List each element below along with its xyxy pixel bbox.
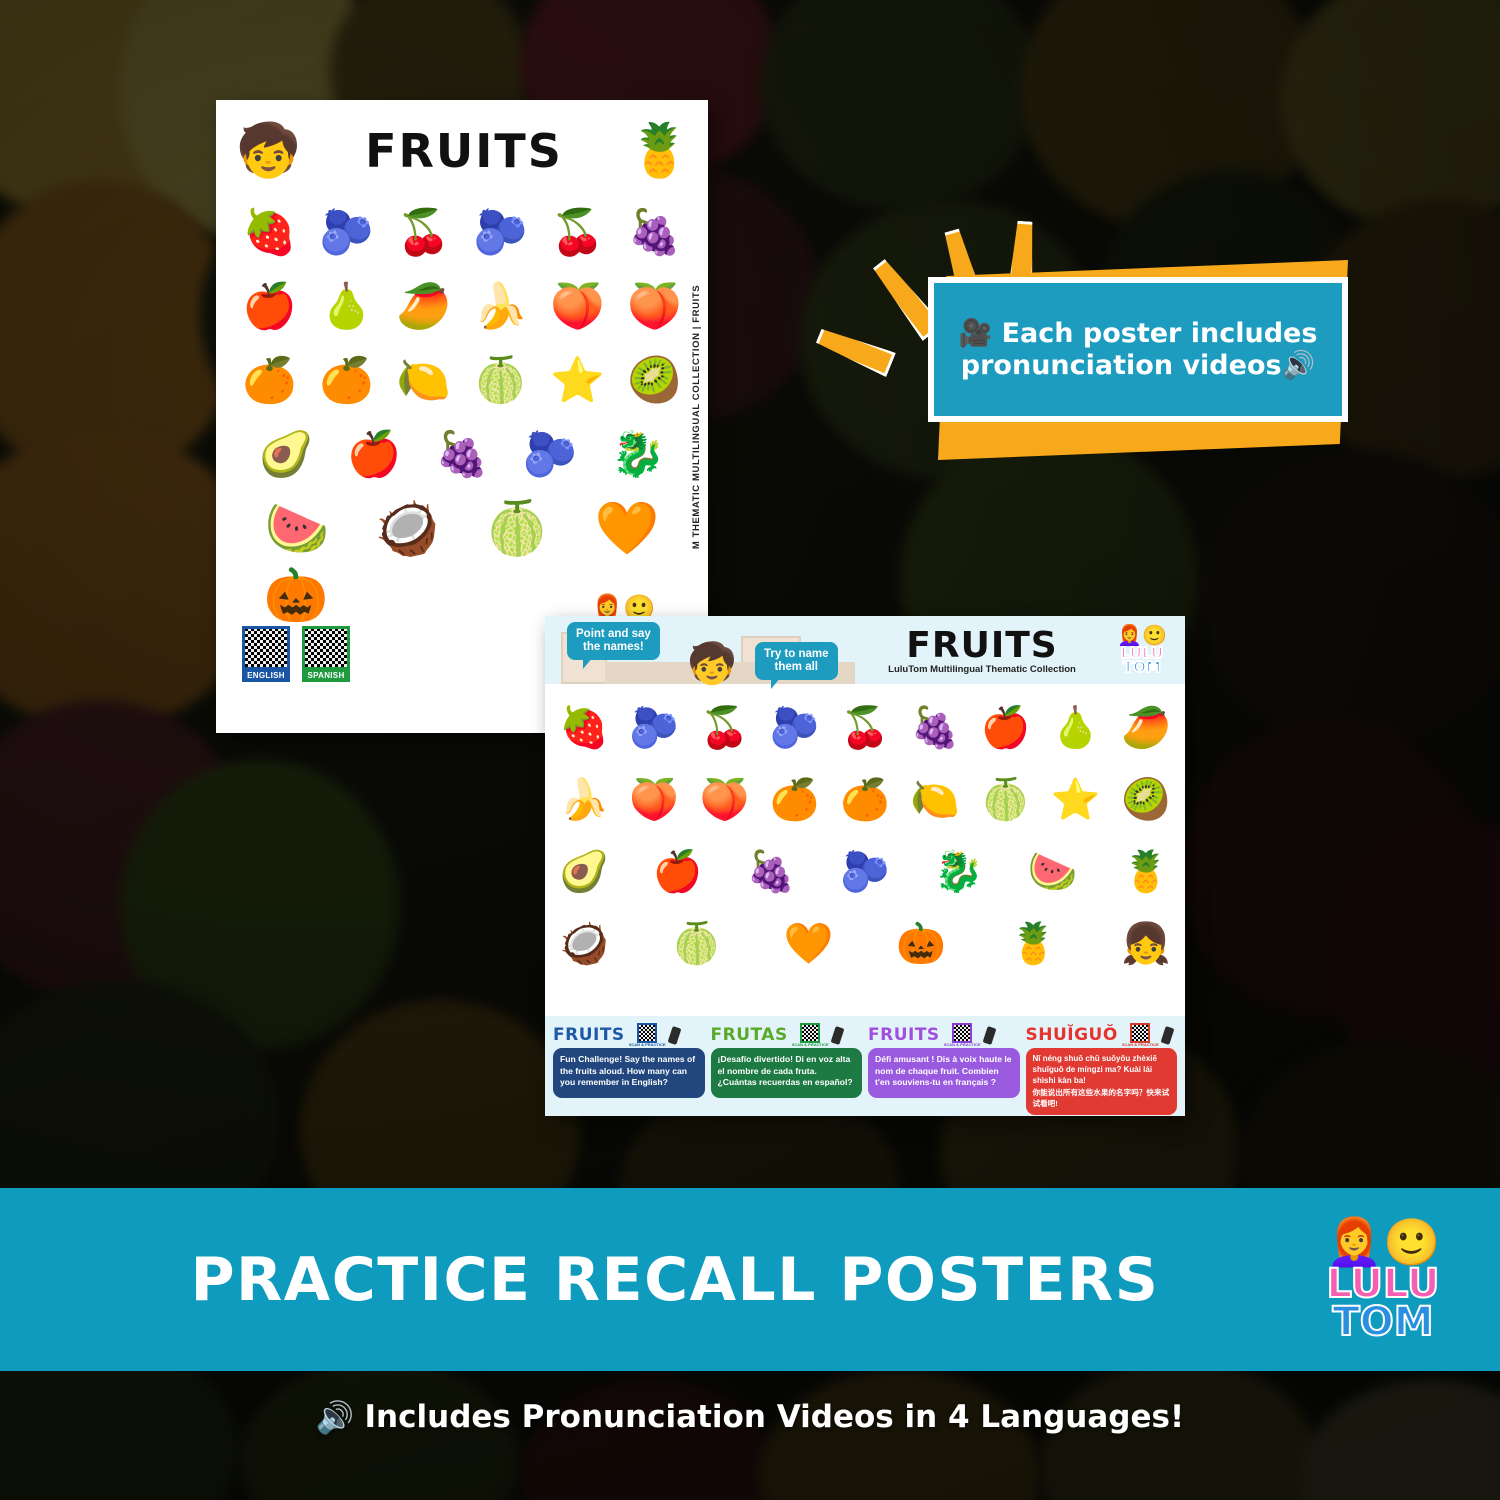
fruit-item-orange: 🍊 [770,780,820,820]
fruit-item-orange: 🍊 [242,359,297,403]
logo-text-tom: TOM [1109,660,1175,674]
callout-pronunciation-videos: 🎥 Each poster includes pronunciation vid… [860,215,1360,480]
lulutom-faces-icon: 👩‍🦰🙂 [1308,1219,1458,1265]
fruit-item-raspberry: 🍒 [700,708,750,748]
callout-line-1: Each poster includes [1002,318,1318,349]
fruit-item-melon: 🍈 [485,503,550,555]
fruit-item-blueberry: 🫐 [770,708,820,748]
qr-label-scan-practice: SCAN & PRACTICE [792,1043,829,1047]
fruit-row: 🍓 🫐 🍒 🫐 🍒 🍇 🍎 🍐 🥭 [559,692,1171,764]
language-word-chinese: SHUĬGUŎ [1026,1025,1118,1045]
qr-image-spanish [302,626,350,670]
fruit-item-strawberry: 🍓 [559,708,609,748]
bubble-line-2: the names! [583,641,644,653]
tagline-bar: 🔊 Includes Pronunciation Videos in 4 Lan… [0,1382,1500,1452]
fruit-row: 🍎 🍐 🥭 🍌 🍑 🍑 [242,270,682,344]
qr-code-chinese-mini[interactable] [1130,1023,1150,1043]
movie-camera-icon: 🎥 [959,318,993,349]
fruit-item-dragonfruit: 🐉 [934,852,984,892]
fruit-item-pomegranate: 🍎 [347,433,402,477]
fruit-item-starfruit: ⭐ [1051,780,1101,820]
speech-bubble-point-and-say: Point and say the names! [567,622,660,660]
market-scene: 🧒 Point and say the names! Try to name t… [555,616,855,684]
fruit-item-avocado: 🥑 [559,852,609,892]
fruit-row: 🥑 🍎 🍇 🫐 🐉 [242,418,682,492]
lulu-tom-market-scene-icon: 🧒 [236,125,301,177]
language-text-chinese-pinyin: Nǐ néng shuō chū suǒyǒu zhèxiē shuǐguǒ d… [1033,1054,1157,1085]
phone-icon [982,1026,996,1045]
fruit-item-grapes: 🍇 [627,211,682,255]
language-block-french: FRUITS SCAN & PRACTICE Défi amusant ! Di… [868,1022,1020,1110]
qr-code-spanish[interactable]: SPANISH [302,626,350,682]
fruit-item-blackberry: 🫐 [319,211,374,255]
language-block-spanish: FRUTAS SCAN & PRACTICE ¡Desafío divertid… [711,1022,863,1110]
lulutom-logo-banner: 👩‍🦰🙂 LULU TOM [1308,1219,1458,1341]
fruit-item-kiwi: 🥝 [1121,780,1171,820]
fruit-item-tangerine: 🍊 [840,780,890,820]
fruit-item-pineapple: 🍍 [1009,924,1059,964]
lulutom-logo-landscape: 👩‍🦰🙂 LULU TOM [1109,626,1175,675]
fruit-item-raspberry: 🍒 [396,211,451,255]
fruit-row: 🥑 🍎 🍇 🫐 🐉 🍉 🍍 [559,836,1171,908]
qr-code-french-mini[interactable] [952,1023,972,1043]
phone-icon [1160,1026,1174,1045]
fruit-item-mangosteen: 🍇 [746,852,796,892]
fruit-item-banana: 🍌 [473,285,528,329]
fruit-row: 🍌 🍑 🍑 🍊 🍊 🍋 🍈 ⭐ 🥝 [559,764,1171,836]
language-header-chinese: SHUĬGUŎ SCAN & PRACTICE [1026,1022,1178,1048]
bubble-line-1: Point and say [576,628,651,640]
fruit-item-melon: 🍈 [671,924,721,964]
qr-label-english: ENGLISH [242,670,290,682]
assorted-fruit-basket-icon: 🍍 [627,125,692,177]
fruit-item-lime: 🍈 [473,359,528,403]
landscape-title: FRUITS [855,625,1109,666]
fruit-item-watermelon: 🍉 [1027,852,1077,892]
fruit-item-fig: 🫐 [523,433,578,477]
fruit-item-apple: 🍎 [981,708,1031,748]
phone-icon [667,1026,681,1045]
fruit-item-plum: 🍑 [700,780,750,820]
speaker-icon: 🔊 [316,1399,355,1436]
bubble-line-2: them all [775,661,818,673]
fruit-item-dragonfruit: 🐉 [611,433,666,477]
logo-text-tom: TOM [1308,1303,1458,1341]
fruit-item-coconut: 🥥 [375,503,440,555]
lulu-tom-characters-icon: 🧒 [687,644,737,684]
callout-line-2: pronunciation videos [961,350,1282,381]
language-text-chinese-block: Nǐ néng shuō chū suǒyǒu zhèxiē shuǐguǒ d… [1026,1048,1178,1115]
language-block-chinese: SHUĬGUŎ SCAN & PRACTICE Nǐ néng shuō chū… [1026,1022,1178,1110]
portrait-fruit-grid: 🍓 🫐 🍒 🫐 🍒 🍇 🍎 🍐 🥭 🍌 🍑 🍑 🍊 🍊 🍋 🍈 ⭐ 🥝 🥑 [216,192,708,566]
fruit-item-tangerine: 🍊 [319,359,374,403]
fruit-item-pear: 🍐 [1051,708,1101,748]
fruit-item-pumpkin: 🎃 [896,924,946,964]
fruit-row: 🍉 🥥 🍈 🧡 [242,492,682,566]
fruit-item-pomegranate: 🍎 [653,852,703,892]
fruit-item-fig: 🫐 [840,852,890,892]
fruit-item-plum: 🍑 [627,285,682,329]
fruit-item-papaya: 🧡 [595,503,660,555]
landscape-title-block: FRUITS LuluTom Multilingual Thematic Col… [855,625,1109,675]
fruit-item-kiwi: 🥝 [627,359,682,403]
tagline-text: Includes Pronunciation Videos in 4 Langu… [365,1399,1185,1435]
fruit-item-avocado: 🥑 [259,433,314,477]
fruit-item-lemon: 🍋 [910,780,960,820]
fruit-item-grapes: 🍇 [910,708,960,748]
fruit-item-mango: 🥭 [1121,708,1171,748]
landscape-header: 🧒 Point and say the names! Try to name t… [545,616,1185,684]
callout-text: 🎥 Each poster includes pronunciation vid… [959,318,1318,382]
language-text-spanish: ¡Desafío divertido! Di en voz alta el no… [711,1048,863,1098]
qr-code-spanish-mini[interactable] [800,1023,820,1043]
fruit-row: 🥥 🍈 🧡 🎃 🍍 👧 [559,908,1171,980]
fruit-item-lemon: 🍋 [396,359,451,403]
bottom-banner: PRACTICE RECALL POSTERS 👩‍🦰🙂 LULU TOM [0,1188,1500,1371]
fruit-item-peach: 🍑 [550,285,605,329]
fruit-item-cherry: 🍒 [840,708,890,748]
lulutom-faces-icon: 👩‍🦰🙂 [1109,626,1175,646]
language-text-english: Fun Challenge! Say the names of the frui… [553,1048,705,1098]
language-strip: FRUITS SCAN & PRACTICE Fun Challenge! Sa… [545,1016,1185,1116]
fruit-item-coconut: 🥥 [559,924,609,964]
qr-label-scan-practice: SCAN & PRACTICE [944,1043,981,1047]
fruit-item-blackberry: 🫐 [629,708,679,748]
fruit-item-mangosteen: 🍇 [435,433,490,477]
fruit-item-strawberry: 🍓 [242,211,297,255]
fruit-item-banana: 🍌 [559,780,609,820]
language-text-french: Défi amusant ! Dis à voix haute le nom d… [868,1048,1020,1098]
fruit-row: 🍓 🫐 🍒 🫐 🍒 🍇 [242,196,682,270]
language-word-spanish: FRUTAS [711,1025,788,1045]
poster-landscape[interactable]: 🧒 Point and say the names! Try to name t… [545,616,1185,1116]
landscape-subtitle: LuluTom Multilingual Thematic Collection [855,664,1109,675]
fruit-item-cherry: 🍒 [550,211,605,255]
portrait-header: 🧒 FRUITS 🍍 [216,100,708,192]
language-text-chinese-hanzi: 你能说出所有这些水果的名字吗？快来试试看吧! [1033,1088,1171,1109]
fruit-item-lime: 🍈 [981,780,1031,820]
qr-label-scan-practice: SCAN & PRACTICE [1122,1043,1159,1047]
language-word-french: FRUITS [868,1025,940,1045]
fruit-item-mango: 🥭 [396,285,451,329]
language-header-french: FRUITS SCAN & PRACTICE [868,1022,1020,1048]
language-block-english: FRUITS SCAN & PRACTICE Fun Challenge! Sa… [553,1022,705,1110]
bubble-line-1: Try to name [764,648,829,660]
qr-code-english[interactable]: ENGLISH [242,626,290,682]
qr-code-group: ENGLISH SPANISH [242,626,350,682]
speaker-icon: 🔊 [1282,350,1316,381]
landscape-fruit-grid: 🍓 🫐 🍒 🫐 🍒 🍇 🍎 🍐 🥭 🍌 🍑 🍑 🍊 🍊 🍋 🍈 ⭐ 🥝 🥑 🍎 … [545,684,1185,980]
fruit-row: 🍊 🍊 🍋 🍈 ⭐ 🥝 [242,344,682,418]
fruit-item-blueberry: 🫐 [473,211,528,255]
logo-text-lulu: LULU [1308,1265,1458,1303]
fruit-item-pear: 🍐 [319,285,374,329]
qr-label-spanish: SPANISH [302,670,350,682]
lulu-tom-characters-icon: 👧 [1121,924,1171,964]
language-header-spanish: FRUTAS SCAN & PRACTICE [711,1022,863,1048]
language-word-english: FRUITS [553,1025,625,1045]
portrait-title: FRUITS [301,124,628,178]
fruit-item-starfruit: ⭐ [550,359,605,403]
speech-bubble-try-to-name: Try to name them all [755,642,838,680]
callout-teal-panel: 🎥 Each poster includes pronunciation vid… [928,277,1348,422]
fruit-item-peach: 🍑 [629,780,679,820]
banner-title: PRACTICE RECALL POSTERS [42,1245,1308,1315]
qr-code-english-mini[interactable] [637,1023,657,1043]
language-header-english: FRUITS SCAN & PRACTICE [553,1022,705,1048]
fruit-item-watermelon: 🍉 [265,503,330,555]
market-shelf-icon: 🍍 [1121,852,1171,892]
portrait-side-text: M THEMATIC MULTILINGUAL COLLECTION | FRU… [691,284,702,548]
fruit-item-apple: 🍎 [242,285,297,329]
qr-label-scan-practice: SCAN & PRACTICE [629,1043,666,1047]
phone-icon [830,1026,844,1045]
fruit-item-pumpkin: 🎃 [264,570,329,622]
qr-image-english [242,626,290,670]
fruit-item-papaya: 🧡 [784,924,834,964]
